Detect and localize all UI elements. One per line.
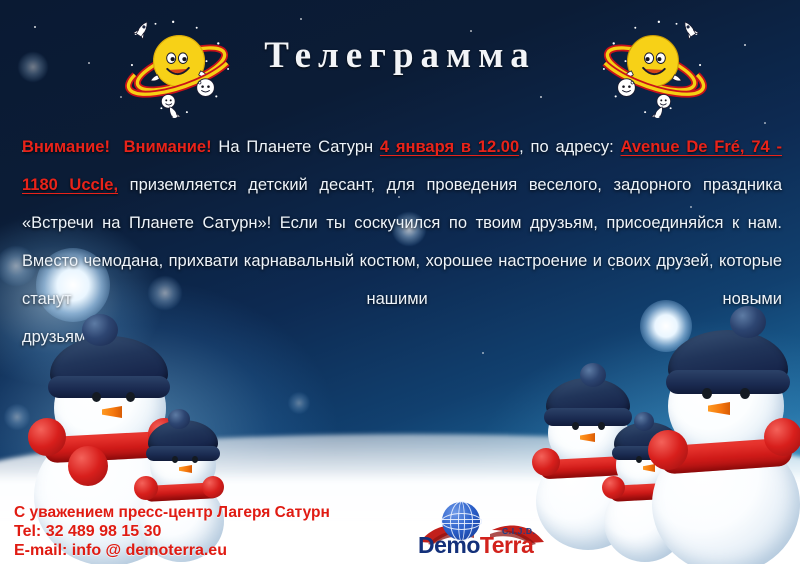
text-segment-1: На Планете Сатурн xyxy=(212,138,380,156)
page-title: Телеграмма xyxy=(0,34,800,77)
brand-name: DemoTerra xyxy=(418,532,533,559)
footer-phone: Tel: 32 489 98 15 30 xyxy=(14,522,330,541)
demoterra-logo: C.I.J.D. DemoTerra xyxy=(418,502,568,558)
footer-signature: С уважением пресс-центр Лагеря Сатурн xyxy=(14,503,330,522)
telegram-poster: Телеграмма Внимание! Внимание! На Планет… xyxy=(0,0,800,564)
alert-gap xyxy=(110,138,124,156)
footer-contact: С уважением пресс-центр Лагеря Сатурн Te… xyxy=(14,503,330,560)
brand-name-terra: Terra xyxy=(480,532,533,558)
snowman-large-right xyxy=(642,322,800,547)
poster-header: Телеграмма xyxy=(0,0,800,124)
alert-word-1: Внимание! xyxy=(22,138,110,156)
event-datetime: 4 января в 12.00 xyxy=(380,138,519,156)
alert-word-2: Внимание! xyxy=(124,138,212,156)
footer-email: E-mail: info @ demoterra.eu xyxy=(14,541,330,560)
text-segment-2: , по адресу: xyxy=(519,138,620,156)
brand-name-demo: Demo xyxy=(418,532,480,558)
text-segment-3: приземляется детский десант, для проведе… xyxy=(22,176,782,308)
